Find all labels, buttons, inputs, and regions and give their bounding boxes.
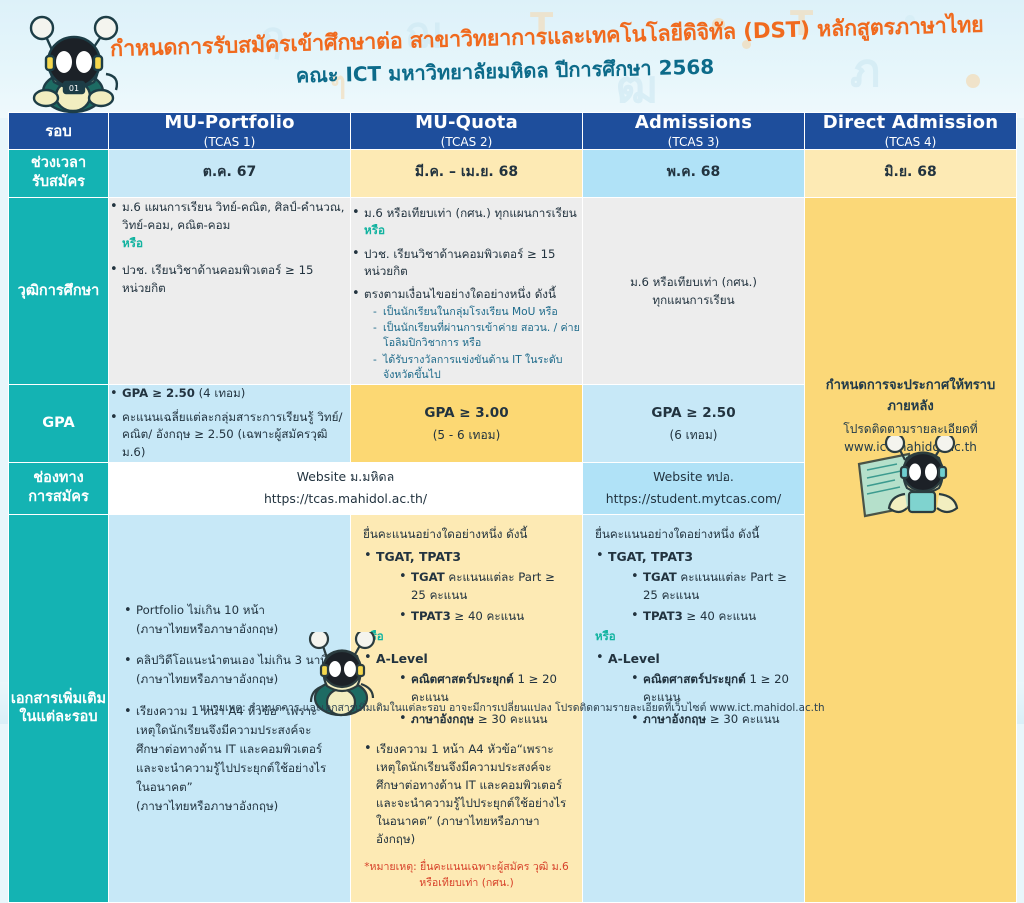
column-subtitle: (TCAS 4) — [805, 135, 1016, 149]
row-label-gpa: GPA — [9, 385, 109, 462]
table-header-row: รอบ MU-Portfolio (TCAS 1) MU-Quota (TCAS… — [9, 113, 1017, 150]
column-subtitle: (TCAS 3) — [583, 135, 804, 149]
qualification-mu-quota: ม.6 หรือเทียบเท่า (กศน.) ทุกแผนการเรียน … — [351, 197, 583, 385]
svg-text:01: 01 — [69, 84, 79, 93]
or-label: หรือ — [122, 236, 143, 250]
channel-url[interactable]: https://student.mytcas.com/ — [583, 488, 804, 510]
column-header-direct-admission: Direct Admission (TCAS 4) — [805, 113, 1017, 150]
list-item: เรียงความ 1 หน้า A4 หัวข้อ “เพราะเหตุใดน… — [123, 702, 336, 816]
column-header-mu-quota: MU-Quota (TCAS 2) — [351, 113, 583, 150]
sub-list-item: TGAT คะแนนแต่ละ Part ≥ 25 คะแนน — [630, 568, 792, 604]
sub-list-item: TPAT3 ≥ 40 คะแนน — [398, 607, 570, 625]
column-subtitle: (TCAS 2) — [351, 135, 582, 149]
channel-title: Website ทปอ. — [583, 466, 804, 488]
column-subtitle: (TCAS 1) — [109, 135, 350, 149]
or-label: หรือ — [364, 223, 385, 237]
column-header-admissions: Admissions (TCAS 3) — [583, 113, 805, 150]
row-label-application-channel: ช่องทาง การสมัคร — [9, 462, 109, 514]
list-item: ม.6 หรือเทียบเท่า (กศน.) ทุกแผนการเรียน … — [351, 205, 582, 239]
title-block: กำหนดการรับสมัครเข้าศึกษาต่อ สาขาวิทยากา… — [110, 26, 900, 84]
list-item: TGAT, TPAT3 TGAT คะแนนแต่ละ Part ≥ 25 คะ… — [595, 547, 792, 626]
announcement-headline: กำหนดการจะประกาศให้ทราบภายหลัง — [815, 374, 1006, 416]
list-item: TGAT, TPAT3 TGATTGAT คะแนนแต่ละ Part ≥ 2… — [363, 547, 570, 626]
or-label: หรือ — [595, 628, 792, 646]
column-title: Direct Admission — [805, 113, 1016, 134]
sub-list-item: เป็นนักเรียนในกลุ่มโรงเรียน MoU หรือ — [373, 305, 582, 320]
list-item: GPA ≥ 2.50 (4 เทอม) — [109, 385, 350, 403]
sub-list-item: ได้รับรางวัลการแข่งขันด้าน IT ในระดับจัง… — [373, 353, 582, 384]
channel-url[interactable]: https://tcas.mahidol.ac.th/ — [109, 488, 582, 510]
row-label-qualification: วุฒิการศึกษา — [9, 197, 109, 385]
gpa-value: GPA ≥ 2.50 — [583, 403, 804, 424]
column-title: MU-Portfolio — [109, 113, 350, 134]
gpa-mu-portfolio: GPA ≥ 2.50 (4 เทอม) คะแนนเฉลี่ยแต่ละกลุ่… — [109, 385, 351, 462]
documents-lead: ยื่นคะแนนอย่างใดอย่างหนึ่ง ดังนี้ — [363, 525, 570, 543]
period-direct-admission: มิ.ย. 68 — [805, 149, 1017, 197]
documents-lead: ยื่นคะแนนอย่างใดอย่างหนึ่ง ดังนี้ — [595, 525, 792, 543]
table-row-qualification: วุฒิการศึกษา ม.6 แผนการเรียน วิทย์-คณิต,… — [9, 197, 1017, 385]
poster-header: กำหนดการรับสมัครเข้าศึกษาต่อ สาขาวิทยากา… — [0, 0, 1024, 112]
list-item: คะแนนเฉลี่ยแต่ละกลุ่มสาระการเรียนรู้ วิท… — [109, 409, 350, 462]
qualification-admissions: ม.6 หรือเทียบเท่า (กศน.) ทุกแผนการเรียน — [583, 197, 805, 385]
period-mu-portfolio: ต.ค. 67 — [109, 149, 351, 197]
period-admissions: พ.ค. 68 — [583, 149, 805, 197]
mascot-robot-sitting: 01 — [18, 8, 130, 120]
column-title: Admissions — [583, 113, 804, 134]
mascot-robot-reading — [847, 436, 965, 536]
direct-admission-merged-cell: กำหนดการจะประกาศให้ทราบภายหลัง โปรดติดตา… — [805, 197, 1017, 902]
documents-note: *หมายเหตุ: ยื่นคะแนนเฉพาะผู้สมัคร วุฒิ ม… — [363, 860, 570, 892]
list-item: ม.6 แผนการเรียน วิทย์-คณิต, ศิลป์-คำนวณ,… — [109, 198, 350, 252]
list-item: ปวช. เรียนวิชาด้านคอมพิวเตอร์ ≥ 15 หน่วย… — [109, 261, 350, 297]
row-label-application-period: ช่วงเวลา รับสมัคร — [9, 149, 109, 197]
footer-note: หมายเหตุ: กำหนดการ และเอกสารเพิ่มเติมในแ… — [0, 699, 1024, 716]
gpa-mu-quota: GPA ≥ 3.00 (5 - 6 เทอม) — [351, 385, 583, 462]
channel-mahidol[interactable]: Website ม.มหิดล https://tcas.mahidol.ac.… — [109, 462, 583, 514]
list-item: เรียงความ 1 หน้า A4 หัวข้อ“เพราะเหตุใดนั… — [363, 740, 570, 849]
gpa-terms: (5 - 6 เทอม) — [351, 426, 582, 445]
column-header-mu-portfolio: MU-Portfolio (TCAS 1) — [109, 113, 351, 150]
table-row-application-period: ช่วงเวลา รับสมัคร ต.ค. 67 มี.ค. – เม.ย. … — [9, 149, 1017, 197]
list-item: ตรงตามเงื่อนไขอย่างใดอย่างหนึ่ง ดังนี้ เ… — [351, 286, 582, 384]
sub-list-item: TGATTGAT คะแนนแต่ละ Part ≥ 25 คะแนน คะแน… — [398, 568, 570, 604]
channel-mytcas[interactable]: Website ทปอ. https://student.mytcas.com/ — [583, 462, 805, 514]
gpa-admissions: GPA ≥ 2.50 (6 เทอม) — [583, 385, 805, 462]
period-mu-quota: มี.ค. – เม.ย. 68 — [351, 149, 583, 197]
sub-list-item: TPAT3 ≥ 40 คะแนน — [630, 607, 792, 625]
qualification-mu-portfolio: ม.6 แผนการเรียน วิทย์-คณิต, ศิลป์-คำนวณ,… — [109, 197, 351, 385]
list-item: ปวช. เรียนวิชาด้านคอมพิวเตอร์ ≥ 15 หน่วย… — [351, 246, 582, 280]
admission-schedule-table: รอบ MU-Portfolio (TCAS 1) MU-Quota (TCAS… — [8, 112, 1017, 903]
channel-title: Website ม.มหิดล — [109, 466, 582, 488]
gpa-terms: (6 เทอม) — [583, 426, 804, 445]
gpa-value: GPA ≥ 3.00 — [351, 403, 582, 424]
column-title: MU-Quota — [351, 113, 582, 134]
or-label: หรือ — [363, 628, 570, 646]
sub-list-item: เป็นนักเรียนที่ผ่านการเข้าค่าย สอวน. / ค… — [373, 321, 582, 352]
